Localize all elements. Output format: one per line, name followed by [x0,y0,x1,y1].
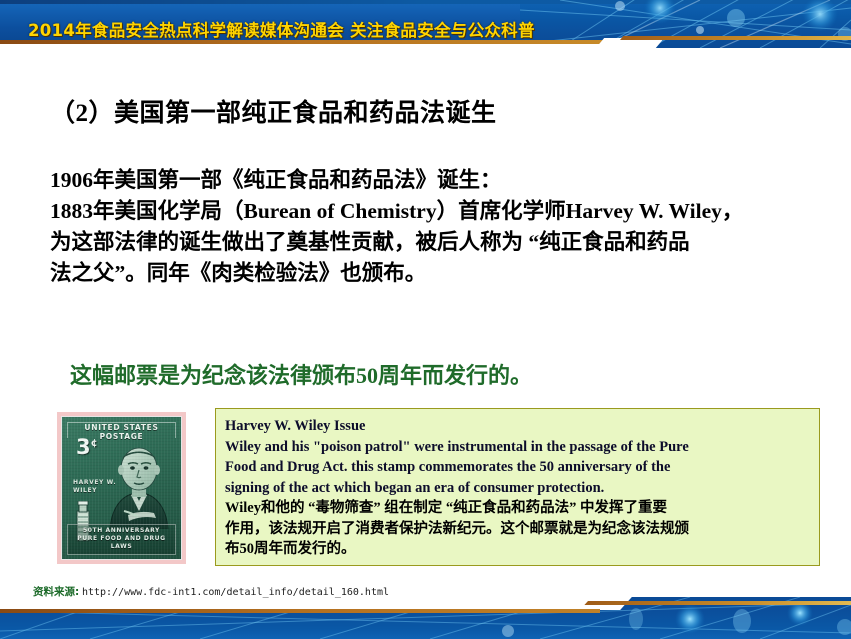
stamp-denomination-unit: ¢ [91,438,98,449]
caption-line-en: Food and Drug Act. this stamp commemorat… [225,457,810,478]
caption-line-en: Wiley and his "poison patrol" were instr… [225,437,810,458]
stamp-denomination: 3¢ [76,435,98,459]
bottom-banner [0,597,851,639]
banner-gold-edge-diagonal [620,36,851,40]
banner-white-base [0,44,630,48]
stamp-denomination-value: 3 [76,435,91,459]
top-banner: 2014年食品安全热点科学解读媒体沟通会 关注食品安全与公众科普 [0,0,851,48]
stamp-law-line: PURE FOOD AND DRUG LAWS [68,535,175,551]
caption-line-cn: Wiley和他的 “毒物筛查” 组在制定 “纯正食品和药品法” 中发挥了重要 [225,498,810,519]
caption-line-cn: 作用，该法规开启了消费者保护法新纪元。这个邮票就是为纪念该法规颁 [225,519,810,540]
bottom-banner-gold-edge [0,609,600,613]
source-credit: 资料来源: http://www.fdc-int1.com/detail_inf… [33,584,389,599]
body-line: 法之父”。同年《肉类检验法》也颁布。 [50,258,820,289]
body-line: 1906年美国第一部《纯正食品和药品法》诞生： [50,165,820,196]
stamp-image: UNITED STATES POSTAGE 3¢ HARVEY W. WILEY [57,412,186,564]
stamp-bottom-caption: 50TH ANNIVERSARY PURE FOOD AND DRUG LAWS [67,524,176,555]
banner-gold-edge [0,40,640,44]
body-text: 1906年美国第一部《纯正食品和药品法》诞生： 1883年美国化学局（Burea… [50,165,820,289]
caption-line-en: signing of the act which began an era of… [225,478,810,499]
stamp-inner: UNITED STATES POSTAGE 3¢ HARVEY W. WILEY [61,416,182,560]
stamp-anniversary-line: 50TH ANNIVERSARY [68,527,175,535]
slide: 2014年食品安全热点科学解读媒体沟通会 关注食品安全与公众科普 （2）美国第一… [0,0,851,639]
bottom-banner-gold-edge-diagonal [584,601,851,605]
body-line: 为这部法律的诞生做出了奠基性贡献，被后人称为 “纯正食品和药品 [50,227,820,258]
source-url[interactable]: http://www.fdc-int1.com/detail_info/deta… [82,587,389,598]
green-highlight-note: 这幅邮票是为纪念该法律颁布50周年而发行的。 [70,358,532,390]
caption-box: Harvey W. Wiley Issue Wiley and his "poi… [215,408,820,566]
page-title: （2）美国第一部纯正食品和药品法诞生 [50,93,497,129]
caption-line-title: Harvey W. Wiley Issue [225,416,810,437]
body-line: 1883年美国化学局（Burean of Chemistry）首席化学师Harv… [50,196,820,227]
banner-title: 2014年食品安全热点科学解读媒体沟通会 关注食品安全与公众科普 [28,17,535,41]
portrait-illustration [106,441,172,529]
source-label: 资料来源: [33,586,79,598]
caption-line-cn: 布50周年而发行的。 [225,539,810,560]
